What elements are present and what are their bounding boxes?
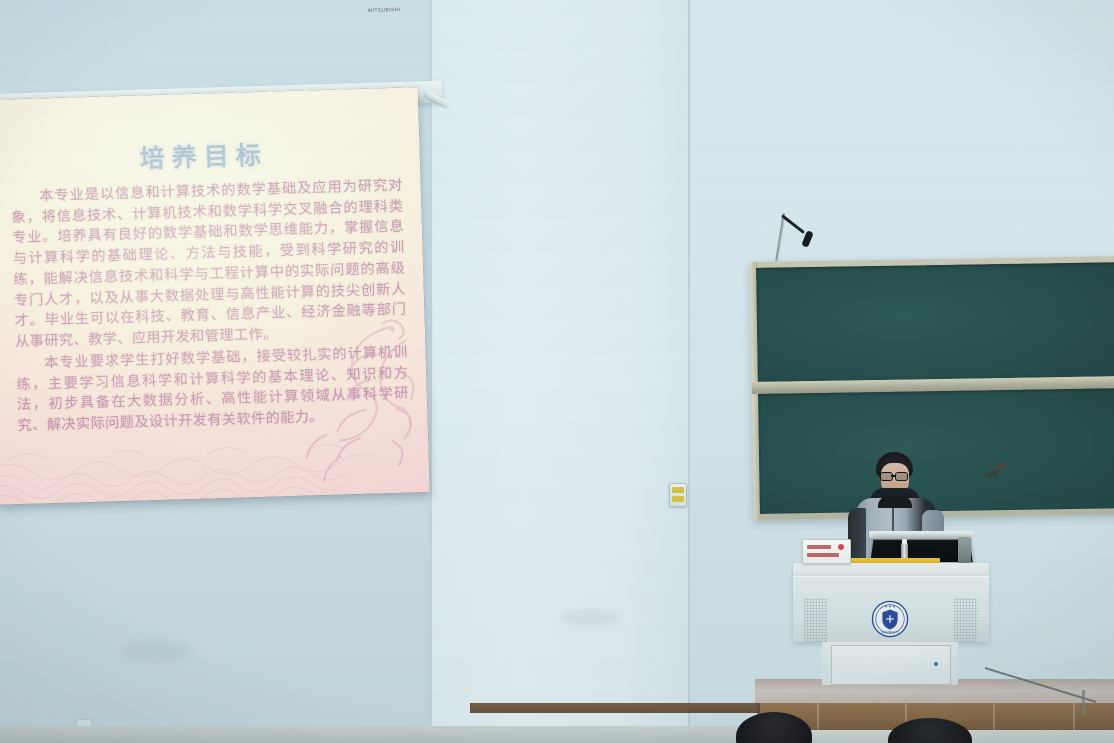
pillar-edge-left [430,0,432,743]
podium-speaker-grille-left [804,598,828,642]
stage-handrail-post [1082,690,1085,716]
slide-title: 培养目标 [0,131,420,180]
wall-smudge [560,610,620,626]
lecture-hall-photo: MITSUBISHI [0,0,1114,743]
projection-screen: 培养目标 本专业是以信息和计算技术的数学基础及应用为研究对象，将信息技术、计算机… [0,87,430,505]
presenter-collar [878,496,912,508]
wall-switch-panel[interactable] [669,483,687,507]
projector-brand-label: MITSUBISHI [368,7,401,14]
presentation-slide: 培养目标 本专业是以信息和计算技术的数学基础及应用为研究对象，将信息技术、计算机… [0,87,430,505]
podium-access-panel[interactable] [831,645,951,685]
slide-body: 本专业是以信息和计算技术的数学基础及应用为研究对象，将信息技术、计算机技术和数学… [11,176,410,438]
pillar-edge-right [688,0,690,743]
podium: ★ ★ ★ UNIVERSITY [793,563,989,685]
blackboard-panel-upper [756,262,1114,382]
slide-paragraph-2: 本专业要求学生打好数学基础，接受较扎实的计算机训练，主要学习信息科学和计算科学的… [16,342,410,437]
svg-text:UNIVERSITY: UNIVERSITY [881,631,899,635]
floor [0,726,760,743]
eyeglasses-icon [895,472,908,481]
slide-paragraph-1: 本专业是以信息和计算技术的数学基础及应用为研究对象，将信息技术、计算机技术和数学… [11,176,408,353]
water-bottle-cap [902,539,907,544]
podium-speaker-grille-right [954,598,978,642]
podium-control-device[interactable] [958,537,971,563]
podium-panel-knob[interactable] [934,662,938,666]
svg-text:★ ★ ★: ★ ★ ★ [885,605,896,609]
university-crest-icon: ★ ★ ★ UNIVERSITY [871,600,909,638]
wall-pillar [430,0,690,743]
podium-sign [802,539,851,564]
eyeglasses-bridge [891,475,895,477]
podium-front-face: ★ ★ ★ UNIVERSITY [793,576,989,642]
wall-smudge [120,640,190,662]
wall-baseboard [470,703,760,713]
